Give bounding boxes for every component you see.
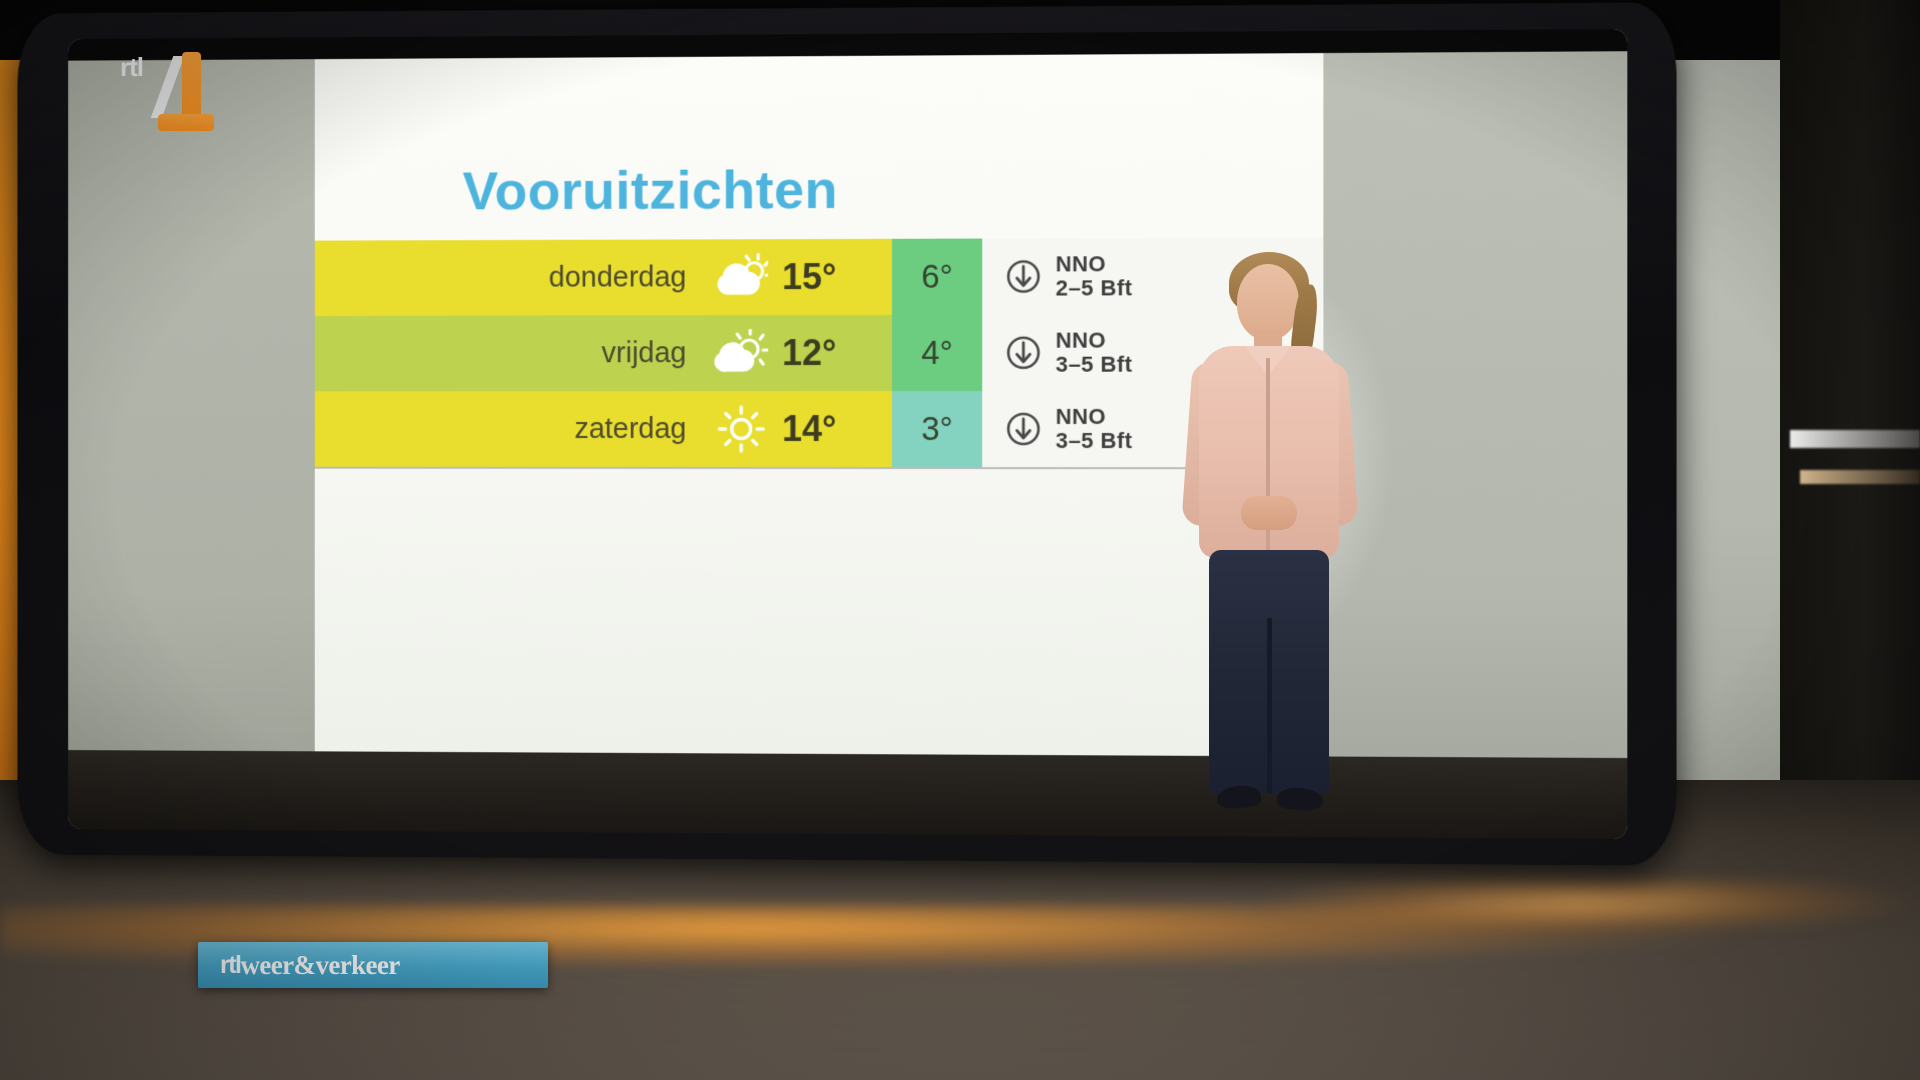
day-label: donderdag	[549, 261, 687, 294]
program-bug: rtl weer&verkeer	[198, 942, 548, 988]
wind-direction: NNO	[1056, 252, 1133, 276]
min-temp-cell: 3°	[892, 391, 982, 467]
floor-light-glow-right	[1180, 880, 1920, 926]
max-temp: 12°	[782, 332, 836, 374]
wind-arrow-down-icon	[1004, 257, 1042, 295]
wind-direction: NNO	[1056, 329, 1133, 353]
min-temp: 4°	[921, 334, 953, 372]
weather-icon-cell	[700, 391, 782, 467]
bug-rtl-label: rtl	[220, 951, 241, 980]
max-temp: 14°	[782, 408, 836, 450]
wind-text: NNO 2–5 Bft	[1056, 252, 1133, 300]
page-title: Vooruitzichten	[463, 159, 838, 222]
sun-cloud-icon	[714, 329, 768, 377]
wind-direction: NNO	[1056, 405, 1133, 429]
studio-light-strip-1	[1790, 430, 1920, 448]
row-day-cell: donderdag	[315, 239, 701, 316]
wind-force: 3–5 Bft	[1056, 429, 1133, 453]
rtl4-logo: rtl	[120, 42, 230, 126]
presenter-hands	[1241, 496, 1297, 530]
cloud-sun-icon	[714, 253, 768, 301]
wind-arrow-down-icon	[1004, 334, 1042, 372]
rtl-wordmark: rtl	[120, 52, 143, 83]
logo-horizontal-bar	[158, 114, 214, 131]
min-temp: 6°	[921, 258, 953, 296]
min-temp-cell: 6°	[892, 239, 982, 315]
wind-text: NNO 3–5 Bft	[1056, 405, 1133, 453]
max-temp-cell: 12°	[782, 315, 892, 391]
presenter-leg-seam	[1267, 618, 1272, 794]
bug-program-label: weer&verkeer	[241, 950, 400, 981]
sun-icon	[716, 404, 766, 454]
wind-force: 2–5 Bft	[1056, 276, 1133, 300]
max-temp-cell: 14°	[782, 391, 892, 467]
wind-text: NNO 3–5 Bft	[1056, 329, 1133, 377]
presenter-head	[1237, 264, 1299, 340]
broadcast-screenshot: Vooruitzichten donderdag	[0, 0, 1920, 1080]
day-label: vrijdag	[602, 337, 687, 370]
weather-icon-cell	[700, 315, 782, 391]
row-day-cell: zaterdag	[315, 391, 701, 467]
wind-arrow-down-icon	[1004, 410, 1042, 448]
max-temp-cell: 15°	[782, 239, 892, 315]
weather-icon-cell	[700, 239, 782, 315]
screen-left-panel	[68, 37, 315, 830]
row-day-cell: vrijdag	[315, 315, 701, 391]
logo-diagonal-bar	[151, 56, 185, 118]
wind-force: 3–5 Bft	[1056, 353, 1133, 377]
weather-presenter	[1165, 258, 1405, 818]
max-temp: 15°	[782, 256, 836, 298]
min-temp: 3°	[921, 410, 953, 448]
studio-wall-far-right	[1780, 0, 1920, 900]
day-label: zaterdag	[574, 413, 686, 446]
min-temp-cell: 4°	[892, 315, 982, 391]
studio-light-strip-2	[1800, 470, 1920, 484]
